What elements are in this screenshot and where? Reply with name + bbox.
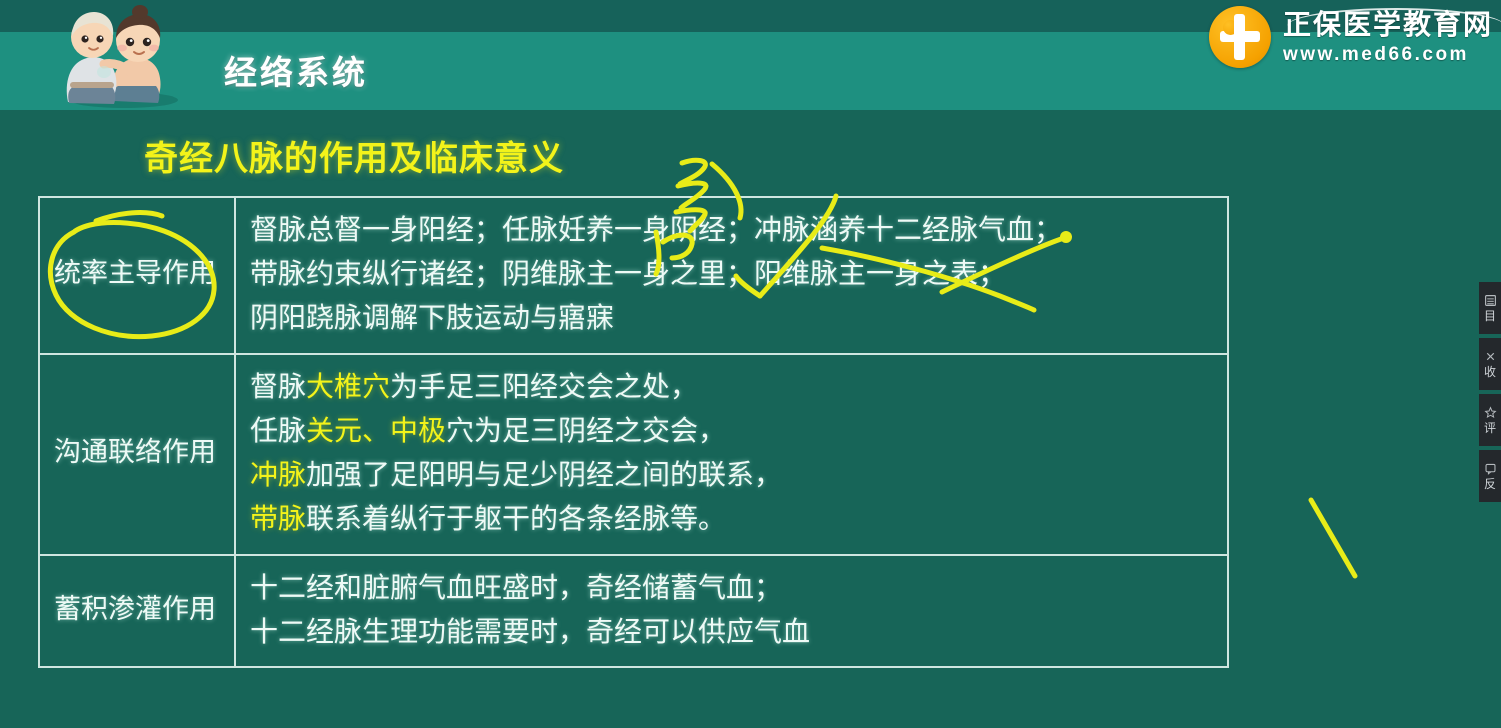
body-line: 督脉总督一身阳经；任脉妊养一身阴经；冲脉涵养十二经脉气血； xyxy=(250,208,1219,252)
body-line: 冲脉加强了足阳明与足少阴经之间的联系， xyxy=(250,453,1219,497)
row-body-cell: 督脉大椎穴为手足三阳经交会之处，任脉关元、中极穴为足三阴经之交会，冲脉加强了足阳… xyxy=(235,354,1228,555)
row-label-cell: 沟通联络作用 xyxy=(39,354,235,555)
plain-text: 加强了足阳明与足少阴经之间的联系， xyxy=(306,459,782,490)
row-label-cell: 蓄积渗灌作用 xyxy=(39,555,235,667)
rail-button-feedback[interactable]: 反 xyxy=(1479,450,1501,502)
奇经八脉作用表: 统率主导作用督脉总督一身阳经；任脉妊养一身阴经；冲脉涵养十二经脉气血；带脉约束纵… xyxy=(38,196,1229,668)
body-line: 带脉约束纵行诸经；阴维脉主一身之里；阳维脉主一身之表； xyxy=(250,252,1219,296)
highlighted-term: 关元、中极 xyxy=(306,415,446,446)
plain-text: 为手足三阳经交会之处， xyxy=(390,371,698,402)
plain-text: 阴阳跷脉调解下肢运动与寤寐 xyxy=(250,302,614,333)
ink-char-stroke-1 xyxy=(680,160,705,184)
side-widget-rail[interactable]: 目 收 评 反 xyxy=(1479,282,1501,502)
brand-logo: 正保医学教育网 www.med66.com xyxy=(1209,6,1493,68)
rail-button-catalog[interactable]: 目 xyxy=(1479,282,1501,334)
body-line: 阴阳跷脉调解下肢运动与寤寐 xyxy=(250,296,1219,340)
body-line: 十二经脉生理功能需要时，奇经可以供应气血 xyxy=(250,610,1219,654)
ink-diagonal-right xyxy=(1311,500,1355,576)
body-line: 十二经和脏腑气血旺盛时，奇经储蓄气血； xyxy=(250,566,1219,610)
table-row: 蓄积渗灌作用十二经和脏腑气血旺盛时，奇经储蓄气血；十二经脉生理功能需要时，奇经可… xyxy=(39,555,1228,667)
rail-button-collect[interactable]: 收 xyxy=(1479,338,1501,390)
lecture-slide-player: 经络系统 正保医学教育网 www.med66.com 奇经八脉的作用及临床意义 … xyxy=(0,0,1501,728)
list-icon xyxy=(1484,294,1497,307)
slide-title: 奇经八脉的作用及临床意义 xyxy=(144,131,564,180)
plain-text: 联系着纵行于躯干的各条经脉等。 xyxy=(306,503,726,534)
square-icon xyxy=(1484,462,1497,475)
highlighted-term: 带脉 xyxy=(250,503,306,534)
plain-text: 十二经和脏腑气血旺盛时，奇经储蓄气血； xyxy=(250,572,782,603)
row-body-cell: 十二经和脏腑气血旺盛时，奇经储蓄气血；十二经脉生理功能需要时，奇经可以供应气血 xyxy=(235,555,1228,667)
highlighted-term: 大椎穴 xyxy=(306,371,390,402)
plain-text: 督脉总督一身阳经；任脉妊养一身阴经；冲脉涵养十二经脉气血； xyxy=(250,214,1062,245)
close-icon xyxy=(1484,350,1497,363)
rail-label-collect: 收 xyxy=(1484,366,1496,378)
page-title: 经络系统 xyxy=(224,46,368,94)
body-line: 任脉关元、中极穴为足三阴经之交会， xyxy=(250,409,1219,453)
body-line: 带脉联系着纵行于躯干的各条经脉等。 xyxy=(250,497,1219,541)
rail-label-feedback: 反 xyxy=(1484,478,1496,490)
rail-label-catalog: 目 xyxy=(1484,310,1496,322)
two-children-massage-illustration xyxy=(52,4,192,108)
table-row: 统率主导作用督脉总督一身阳经；任脉妊养一身阴经；冲脉涵养十二经脉气血；带脉约束纵… xyxy=(39,197,1228,354)
slide-header: 经络系统 正保医学教育网 www.med66.com xyxy=(0,0,1501,110)
row-body-cell: 督脉总督一身阳经；任脉妊养一身阴经；冲脉涵养十二经脉气血；带脉约束纵行诸经；阴维… xyxy=(235,197,1228,354)
orange-circle-cross-logo-icon xyxy=(1209,6,1271,68)
table-row: 沟通联络作用督脉大椎穴为手足三阳经交会之处，任脉关元、中极穴为足三阴经之交会，冲… xyxy=(39,354,1228,555)
plain-text: 督脉 xyxy=(250,371,306,402)
plain-text: 穴为足三阴经之交会， xyxy=(446,415,726,446)
brand-url: www.med66.com xyxy=(1283,45,1493,64)
rail-button-rate[interactable]: 评 xyxy=(1479,394,1501,446)
plain-text: 任脉 xyxy=(250,415,306,446)
body-line: 督脉大椎穴为手足三阳经交会之处， xyxy=(250,365,1219,409)
star-icon xyxy=(1484,406,1497,419)
row-label-cell: 统率主导作用 xyxy=(39,197,235,354)
highlighted-term: 冲脉 xyxy=(250,459,306,490)
plain-text: 十二经脉生理功能需要时，奇经可以供应气血 xyxy=(250,616,810,647)
rail-label-rate: 评 xyxy=(1484,422,1496,434)
plain-text: 带脉约束纵行诸经；阴维脉主一身之里；阳维脉主一身之表； xyxy=(250,258,1006,289)
